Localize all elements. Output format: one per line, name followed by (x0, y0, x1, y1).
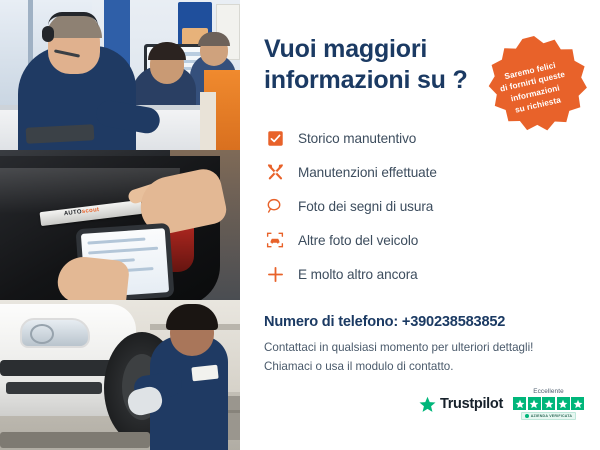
content-panel: Vuoi maggiori informazioni su ? Saremo f… (240, 0, 600, 450)
promo-banner: AUTOscout (0, 0, 600, 450)
callout-badge: Saremo felici di fornirti queste informa… (480, 34, 588, 142)
lower-grille-decor (6, 382, 102, 394)
verified-label: AZIENDA VERIFICATA (531, 414, 572, 418)
grille-decor (0, 360, 118, 376)
lift-platform-decor (0, 432, 150, 448)
phone-number-text: Numero di telefono: +390238583852 (264, 314, 578, 330)
page-title: Vuoi maggiori informazioni su ? (264, 34, 474, 96)
contact-subtext-line-1: Contattaci in qualsiasi momento per ulte… (264, 339, 578, 358)
star-icon (528, 397, 541, 410)
list-item: Foto dei segni di usura (264, 192, 578, 220)
photo-strip: AUTOscout (0, 0, 240, 450)
contact-subtext: Contattaci in qualsiasi momento per ulte… (264, 339, 578, 376)
trustpilot-star-icon (419, 396, 436, 413)
mechanic-wheel-lift-photo (0, 300, 240, 450)
feature-label: E molto altro ancora (298, 267, 418, 282)
strip-brand-text: AUTOscout (64, 207, 100, 217)
list-item: Manutenzioni effettuate (264, 158, 578, 186)
verified-check-icon (525, 414, 529, 418)
list-item: E molto altro ancora (264, 260, 578, 288)
trustpilot-widget[interactable]: Trustpilot Eccellente AZIENDA VERIFICATA (419, 388, 584, 420)
feature-list: Storico manutentivo Manutenzioni effettu… (264, 124, 578, 288)
star-icon (571, 397, 584, 410)
headlight-decor (20, 318, 90, 348)
headset-icon (469, 43, 494, 65)
trustpilot-rating[interactable]: Eccellente AZIENDA VERIFICATA (513, 388, 584, 420)
checkbox-checked-icon (264, 127, 286, 149)
verified-badge: AZIENDA VERIFICATA (521, 412, 576, 420)
vehicle-inspection-tablet-photo: AUTOscout (0, 150, 240, 300)
plus-icon (264, 263, 286, 285)
contact-subtext-line-2: Chiamaci o usa il modulo di contatto. (264, 358, 578, 377)
feature-label: Manutenzioni effettuate (298, 165, 437, 180)
trustpilot-brand-text: Trustpilot (440, 396, 503, 412)
orange-signage-secondary-decor (200, 92, 216, 150)
star-rating (513, 397, 584, 410)
agent-headset-band-decor (48, 12, 98, 26)
car-viewfinder-icon (264, 229, 286, 251)
list-item: Altre foto del veicolo (264, 226, 578, 254)
magnifier-icon (264, 195, 286, 217)
feature-label: Altre foto del veicolo (298, 233, 418, 248)
feature-label: Foto dei segni di usura (298, 199, 433, 214)
star-icon (542, 397, 555, 410)
mechanic-uniform-badge-decor (191, 365, 218, 382)
agent-headset-earpiece-decor (42, 26, 54, 42)
star-icon (557, 397, 570, 410)
trustpilot-logo[interactable]: Trustpilot (419, 396, 503, 413)
star-icon (513, 397, 526, 410)
lower-hand-decor (56, 254, 130, 300)
rating-label: Eccellente (533, 388, 564, 395)
feature-label: Storico manutentivo (298, 131, 416, 146)
tools-wrench-icon (264, 161, 286, 183)
call-center-photo (0, 0, 240, 150)
